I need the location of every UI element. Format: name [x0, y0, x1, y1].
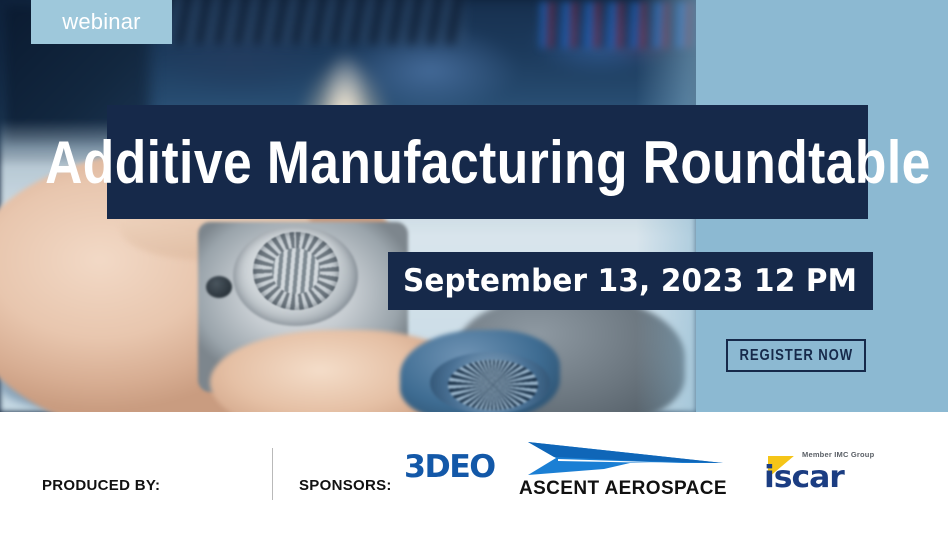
sponsor-logo-3deo[interactable]: 3DEO	[404, 452, 492, 482]
photo-part-bolt-hole	[206, 276, 232, 298]
photo-lattice-mesh	[448, 360, 538, 410]
webinar-tag: webinar	[31, 0, 172, 44]
webinar-tag-label: webinar	[62, 9, 140, 35]
register-now-label: REGISTER NOW	[739, 347, 853, 365]
ascent-chevron-icon	[518, 437, 728, 479]
produced-by-label: PRODUCED BY:	[42, 477, 160, 494]
hero-section: webinar Additive Manufacturing Roundtabl…	[0, 0, 948, 412]
footer-section: PRODUCED BY: Aerospace Manufacturing & D…	[0, 412, 948, 533]
sponsor-logo-ascent-aerospace[interactable]: ASCENT AEROSPACE	[518, 437, 728, 499]
event-datetime: September 13, 2023 12 PM	[403, 263, 857, 299]
footer-divider	[272, 448, 273, 500]
photo-metal-part-core	[272, 248, 320, 294]
page-title: Additive Manufacturing Roundtable	[45, 128, 931, 197]
photo-grid-texture	[165, 0, 465, 44]
iscar-wordmark: iscar	[764, 460, 844, 495]
iscar-member-text: Member IMC Group	[802, 450, 874, 459]
sponsor-ascent-wordmark: ASCENT AEROSPACE	[518, 478, 728, 500]
register-now-button[interactable]: REGISTER NOW	[726, 339, 866, 372]
sponsor-3deo-wordmark: 3DEO	[404, 449, 495, 485]
sponsors-label: SPONSORS:	[299, 477, 392, 494]
sponsor-logo-iscar[interactable]: Member IMC Group iscar	[760, 448, 868, 498]
webinar-promo-banner: webinar Additive Manufacturing Roundtabl…	[0, 0, 948, 533]
title-box: Additive Manufacturing Roundtable	[107, 105, 868, 219]
date-box: September 13, 2023 12 PM	[388, 252, 873, 310]
